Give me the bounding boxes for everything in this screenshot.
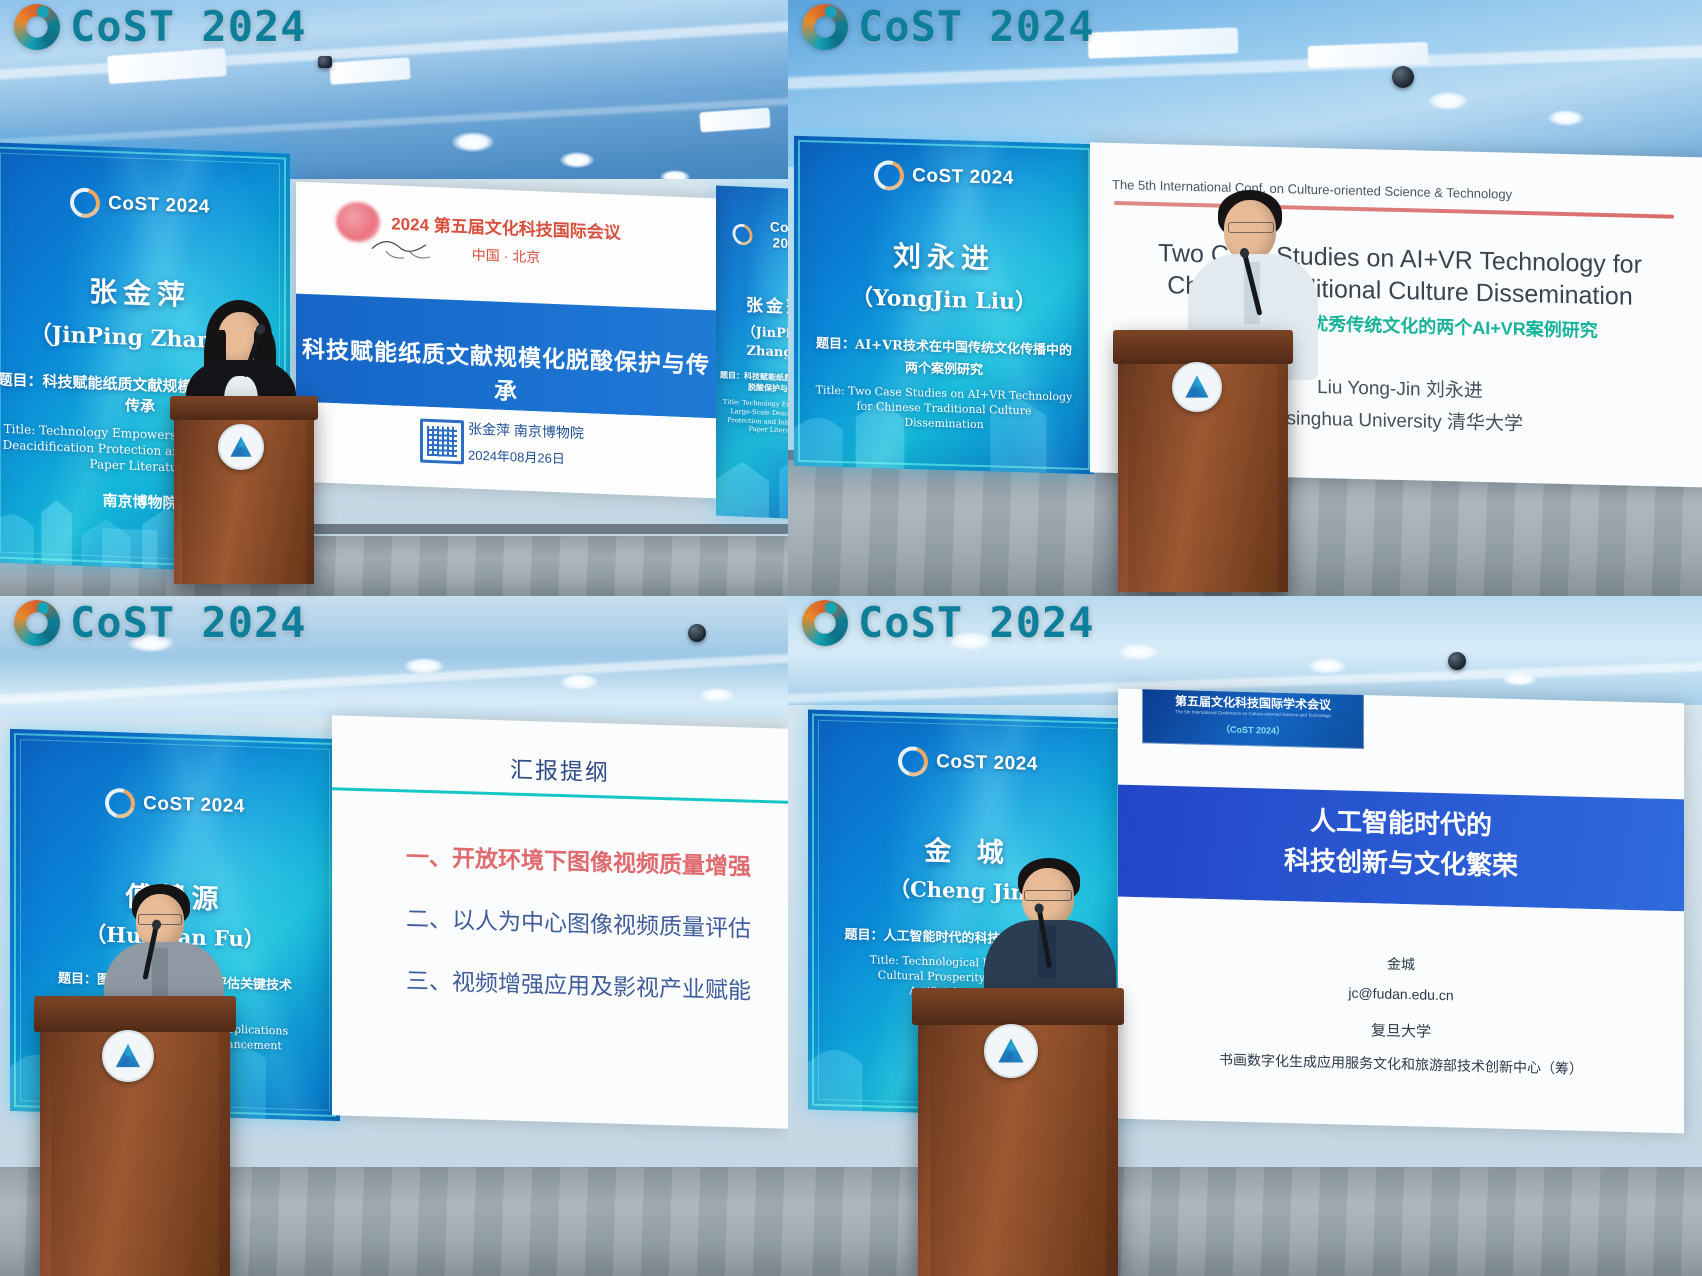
speaker-topic-cn-l2: 两个案例研究	[905, 357, 983, 378]
cost-swirl-icon	[14, 4, 60, 50]
museum-seal-icon	[420, 419, 464, 465]
ceiling-beam	[0, 651, 788, 706]
cost-ring-icon	[729, 221, 756, 249]
watermark-logo-q2: CoST 2024	[802, 2, 1095, 51]
podium-emblem-icon	[102, 1030, 154, 1082]
ceiling-beam	[0, 94, 788, 147]
led-content-q2: CoST 2024 刘永进 （YongJin Liu） 题目：AI+VR技术在中…	[794, 136, 1094, 474]
cost-logo-on-screen: CoST 2024	[874, 160, 1014, 194]
ceiling-downlight	[1308, 658, 1346, 674]
slide-title-band: 科技赋能纸质文献规模化脱酸保护与传承	[296, 294, 716, 419]
podium-emblem-icon	[1172, 362, 1222, 412]
glasses-icon	[1024, 890, 1072, 901]
podium-top	[34, 996, 235, 1032]
watermark-logo-q1: CoST 2024	[14, 2, 307, 51]
cost-logo-on-screen: CoST 2024	[105, 788, 245, 822]
cost-logo-text: CoST 2024	[143, 793, 245, 818]
watermark-text: CoST 2024	[858, 2, 1095, 51]
slide-body: 金城 jc@fudan.edu.cn 复旦大学 书画数字化生成应用服务文化和旅游…	[1118, 897, 1684, 1134]
led-wall-right-sliver-q1: CoST 2024 张金萍 （JinPing Zhang） 题目：科技赋能纸质文…	[716, 185, 788, 520]
ceiling-downlight	[1502, 672, 1536, 686]
ceiling-light-panel	[107, 48, 227, 84]
ceiling-light-panel	[1308, 42, 1429, 68]
cost-logo-text: CoST 2024	[912, 165, 1014, 190]
slide-main-title: 科技赋能纸质文献规模化脱酸保护与传承	[296, 330, 716, 415]
slide-footer: 张金萍 南京博物院 2024年08月26日	[296, 402, 716, 499]
cost-ring-icon	[893, 741, 934, 781]
cost-logo-text: CoST 2024	[108, 193, 210, 219]
ceiling-downlight	[1118, 644, 1158, 660]
cost-ring-icon	[100, 783, 141, 823]
outline-item-1: 一、开放环境下图像视频质量增强	[406, 837, 751, 881]
emblem-triangle	[1184, 374, 1209, 399]
slide-university: 复旦大学	[1118, 1013, 1684, 1049]
ceiling-downlight	[560, 674, 598, 690]
speaker-title-en-l3: Dissemination	[904, 416, 983, 433]
slide-center: 书画数字化生成应用服务文化和旅游部技术创新中心（筹）	[1118, 1047, 1684, 1082]
watermark-logo-q3: CoST 2024	[14, 598, 307, 647]
emblem-triangle	[115, 1043, 141, 1069]
photo-panel-top-left: CoST 2024 张金萍 （JinPing Zhang） 题目：科技赋能纸质文…	[0, 0, 788, 596]
glasses-icon	[1228, 222, 1274, 233]
outline-item-3-num: 三、	[406, 967, 452, 994]
slide-email: jc@fudan.edu.cn	[1118, 979, 1684, 1010]
slide-author: 金城	[1118, 947, 1684, 982]
speaker-topic-cn: 题目：科技赋能纸质文献规模化脱酸保护与传承	[718, 370, 788, 397]
speaker-org-cn: 南京博物院	[102, 489, 177, 513]
ceiling-downlight	[1428, 92, 1468, 110]
skyline-graphic	[716, 403, 788, 520]
cost-ring-icon	[65, 183, 106, 223]
outline-item-2-num: 二、	[406, 905, 452, 932]
ceiling-light-panel	[1088, 27, 1239, 58]
projection-slide-q3: 汇报提纲 一、开放环境下图像视频质量增强 二、以人为中心图像视频质量评估 三、视…	[332, 715, 788, 1129]
cost-swirl-icon	[802, 600, 848, 646]
slide-title-band: 人工智能时代的 科技创新与文化繁荣	[1118, 785, 1684, 912]
cost-swirl-icon	[14, 600, 60, 646]
podium-top	[1113, 330, 1293, 364]
slide-title-cn-l2: 科技创新与文化繁荣	[1118, 841, 1684, 886]
ceiling-downlight	[700, 688, 734, 702]
photo-panel-bottom-right: CoST 2024 金 城 （Cheng Jin） 题目：人工智能时代的科技创新…	[788, 596, 1702, 1276]
dome-camera-icon	[688, 624, 706, 642]
speaker-topic-cn-l1: 题目：AI+VR技术在中国传统文化传播中的	[800, 332, 1088, 359]
outline-item-1-num: 一、	[406, 843, 452, 870]
cost-logo-text: CoST 2024	[758, 219, 788, 253]
podium-q3	[40, 996, 230, 1276]
podium-q1	[174, 396, 314, 584]
slide-date: 2024年08月26日	[468, 444, 565, 467]
ceiling-downlight	[1548, 110, 1584, 126]
podium-q4	[918, 988, 1118, 1276]
dome-camera-icon	[1448, 652, 1466, 670]
outline-item-3-text: 视频增强应用及影视产业赋能	[452, 969, 751, 1004]
photo-collage-grid: CoST 2024 张金萍 （JinPing Zhang） 题目：科技赋能纸质文…	[0, 0, 1702, 1276]
ceiling-downlight	[452, 132, 494, 152]
speaker-name-en: （YongJin Liu）	[851, 279, 1037, 316]
ceiling-light-panel	[329, 57, 410, 85]
cost-logo-on-screen: CoST 2024	[898, 746, 1038, 780]
slide-title-cn-l1: 人工智能时代的	[1118, 801, 1684, 846]
podium-q2	[1118, 330, 1288, 592]
slide-author: 张金萍 南京博物院	[468, 418, 584, 443]
cost-ring-icon	[869, 155, 910, 195]
ceiling-light-panel	[699, 108, 770, 133]
emblem-triangle	[229, 435, 252, 458]
watermark-text: CoST 2024	[70, 598, 307, 647]
security-camera-icon	[318, 56, 332, 68]
shirt-placket	[152, 948, 168, 998]
outline-item-2: 二、以人为中心图像视频质量评估	[406, 899, 751, 943]
photo-panel-bottom-left: CoST 2024 傅慧源 （HuiYuan Fu） 题目：图像视频质量增强与评…	[0, 596, 788, 1276]
speaker-name-cn: 张金萍	[746, 291, 788, 319]
outline-item-2-text: 以人为中心图像视频质量评估	[452, 907, 751, 942]
ceiling-downlight	[560, 152, 594, 168]
led-wall-left-q2: CoST 2024 刘永进 （YongJin Liu） 题目：AI+VR技术在中…	[794, 136, 1094, 474]
cost-swirl-icon	[802, 4, 848, 50]
dome-camera-icon	[1392, 66, 1414, 88]
watermark-text: CoST 2024	[858, 598, 1095, 647]
speaker-name-en: （JinPing Zhang）	[716, 319, 788, 362]
conference-banner: 第五届文化科技国际学术会议 The 5th International Conf…	[1142, 689, 1364, 749]
cost-logo-on-screen: CoST 2024	[733, 218, 788, 253]
photo-panel-top-right: CoST 2024 刘永进 （YongJin Liu） 题目：AI+VR技术在中…	[788, 0, 1702, 596]
cost-logo-on-screen: CoST 2024	[70, 187, 210, 222]
speaker-name-cn: 张金萍	[89, 270, 191, 314]
podium-emblem-icon	[984, 1024, 1038, 1078]
podium-top	[170, 396, 318, 420]
speaker-name-cn: 刘永进	[893, 235, 995, 278]
watermark-text: CoST 2024	[70, 2, 307, 51]
projection-slide-q4: 第五届文化科技国际学术会议 The 5th International Conf…	[1118, 689, 1684, 1134]
projection-slide-q1: 2024 第五届文化科技国际会议 中国 · 北京 科技赋能纸质文献规模化脱酸保护…	[296, 182, 716, 499]
cost-logo-text: CoST 2024	[936, 751, 1038, 776]
outline-item-1-text: 开放环境下图像视频质量增强	[452, 845, 751, 880]
watermark-logo-q4: CoST 2024	[802, 598, 1095, 647]
outline-item-3: 三、视频增强应用及影视产业赋能	[406, 961, 751, 1005]
podium-emblem-icon	[218, 424, 264, 470]
ceiling-downlight	[404, 658, 444, 674]
banner-tag: （CoST 2024）	[1143, 720, 1363, 739]
slide-title: 汇报提纲	[332, 745, 788, 793]
podium-top	[912, 988, 1124, 1025]
emblem-triangle	[997, 1037, 1025, 1065]
